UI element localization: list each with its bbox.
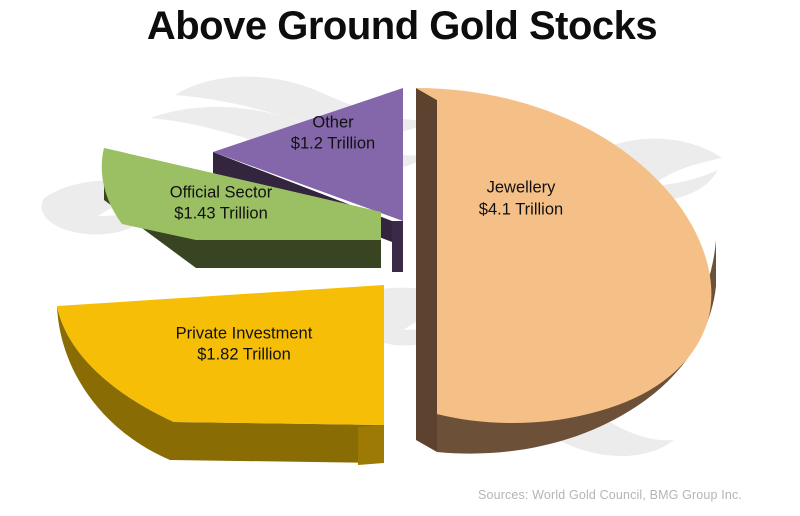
pie-slice-private-investment-label-value: $1.82 Trillion	[197, 345, 291, 363]
pie-slice-jewellery-label-name: Jewellery	[487, 178, 557, 196]
pie-slice-private-investment[interactable]: Private Investment $1.82 Trillion	[57, 285, 384, 465]
pie-slice-jewellery-side	[416, 88, 437, 452]
pie-slice-jewellery-top	[416, 88, 711, 423]
chart-canvas: Above Ground Gold Stocks Other $1.2 Tril…	[0, 0, 800, 516]
pie-slice-other-label-name: Other	[312, 113, 354, 131]
pie-slice-official-sector-label-value: $1.43 Trillion	[174, 204, 268, 222]
pie-slice-other-side-right	[392, 221, 403, 272]
pie-slice-private-investment-label-name: Private Investment	[176, 324, 313, 342]
pie-slice-official-sector-label-name: Official Sector	[170, 183, 273, 201]
pie-slice-jewellery-label-value: $4.1 Trillion	[479, 200, 563, 218]
pie-slice-other-label-value: $1.2 Trillion	[291, 134, 375, 152]
pie-chart-3d: Other $1.2 Trillion Official Sector $1.4…	[0, 0, 800, 516]
pie-slice-private-investment-side-right	[358, 425, 384, 465]
source-note: Sources: World Gold Council, BMG Group I…	[478, 488, 742, 502]
